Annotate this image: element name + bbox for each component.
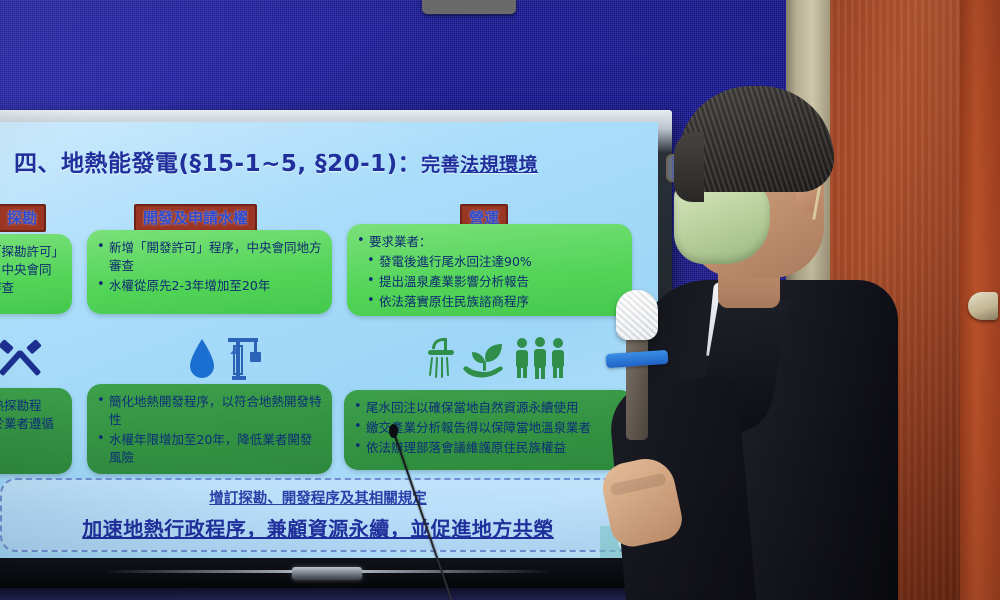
- door-handle-icon[interactable]: [968, 292, 998, 320]
- hand-plant-icon: [462, 342, 508, 386]
- callout-line-2: 加速地熱行政程序，兼顧資源永續，並促進地方共榮: [2, 513, 634, 542]
- slide-title-tail-underline: 法規環境: [460, 154, 538, 176]
- crossed-hammers-icon: [0, 336, 46, 386]
- shower-icon: [420, 335, 460, 385]
- callout-line-1: 增訂探勘、開發程序及其相關規定: [2, 487, 634, 508]
- measure-box-exploration: 新增「探勘許可」程序，中央會同地方審查: [0, 234, 72, 314]
- sub-bullet-item: 依法落實原住民族諮商程序: [365, 293, 622, 311]
- handheld-microphone[interactable]: [610, 290, 668, 440]
- screenshot-root: 四、地熱能發電(§15-1~5, §20-1)：完善法規環境 探勘 開發及申請水…: [0, 0, 1000, 600]
- bullet-item: 依法辦理部落會議維護原住民族權益: [352, 439, 624, 457]
- pointer-tip-icon: [389, 424, 398, 438]
- slide-icon-row: [0, 334, 658, 386]
- sub-bullet-item: 提出溫泉產業影響分析報告: [365, 273, 622, 291]
- slide-title-tail-plain: 完善: [421, 154, 460, 176]
- section-badge-exploration: 探勘: [0, 204, 46, 232]
- tv-screen: 四、地熱能發電(§15-1~5, §20-1)：完善法規環境 探勘 開發及申請水…: [0, 122, 658, 562]
- tv-chrome-right: [342, 570, 552, 573]
- section-badge-development: 開發及申請水櫂: [134, 204, 257, 232]
- bullet-item: 簡化地熱探勘程序，利於業者遵循: [0, 397, 62, 433]
- bullet-item: 新增「探勘許可」程序，中央會同地方審查: [0, 243, 62, 297]
- presentation-television: 四、地熱能發電(§15-1~5, §20-1)：完善法規環境 探勘 開發及申請水…: [0, 110, 672, 588]
- bullet-item: 簡化地熱開發程序，以符合地熱開發特性: [95, 393, 322, 429]
- water-drop-icon: [188, 337, 216, 383]
- tv-bottom-bezel: [0, 558, 672, 588]
- three-people-icon: [512, 336, 568, 384]
- crane-icon: [224, 336, 270, 386]
- mic-foam-windscreen: [616, 290, 658, 340]
- slide-title: 四、地熱能發電(§15-1~5, §20-1)：完善法規環境: [14, 144, 634, 178]
- benefit-box-development: 簡化地熱開發程序，以符合地熱開發特性 水權年限增加至20年，降低業者開發風險: [87, 384, 332, 474]
- bullet-item: 水權年限增加至20年，降低業者開發風險: [95, 431, 322, 467]
- bullet-item: 要求業者：: [355, 233, 622, 251]
- slide-summary-callout: 增訂探勘、開發程序及其相關規定 加速地熱行政程序，兼顧資源永續，並促進地方共榮: [0, 478, 636, 552]
- hair: [678, 86, 834, 192]
- mic-blue-band: [606, 350, 669, 368]
- measure-box-development: 新增「開發許可」程序，中央會同地方審查 水權從原先2-3年增加至20年: [87, 230, 332, 314]
- benefit-box-exploration: 簡化地熱探勘程序，利於業者遵循: [0, 388, 72, 474]
- bullet-item: 尾水回注以確保當地自然資源永續使用: [352, 399, 624, 417]
- sub-bullet-item: 發電後進行尾水回注達90%: [365, 253, 622, 271]
- bullet-item: 新增「開發許可」程序，中央會同地方審查: [95, 239, 322, 275]
- tv-chrome-left: [102, 570, 312, 573]
- presentation-slide: 四、地熱能發電(§15-1~5, §20-1)：完善法規環境 探勘 開發及申請水…: [0, 122, 658, 562]
- slide-title-main: 四、地熱能發電(§15-1~5, §20-1)：: [14, 151, 421, 177]
- benefit-box-operation: 尾水回注以確保當地自然資源永續使用 繳交產業分析報告得以保障當地溫泉業者 依法辦…: [344, 390, 634, 470]
- tv-wall-mount: [422, 0, 516, 14]
- bullet-item: 水權從原先2-3年增加至20年: [95, 277, 322, 295]
- tv-brand-plate: [292, 567, 362, 580]
- measure-box-operation: 要求業者： 發電後進行尾水回注達90% 提出溫泉產業影響分析報告 依法落實原住民…: [347, 224, 632, 316]
